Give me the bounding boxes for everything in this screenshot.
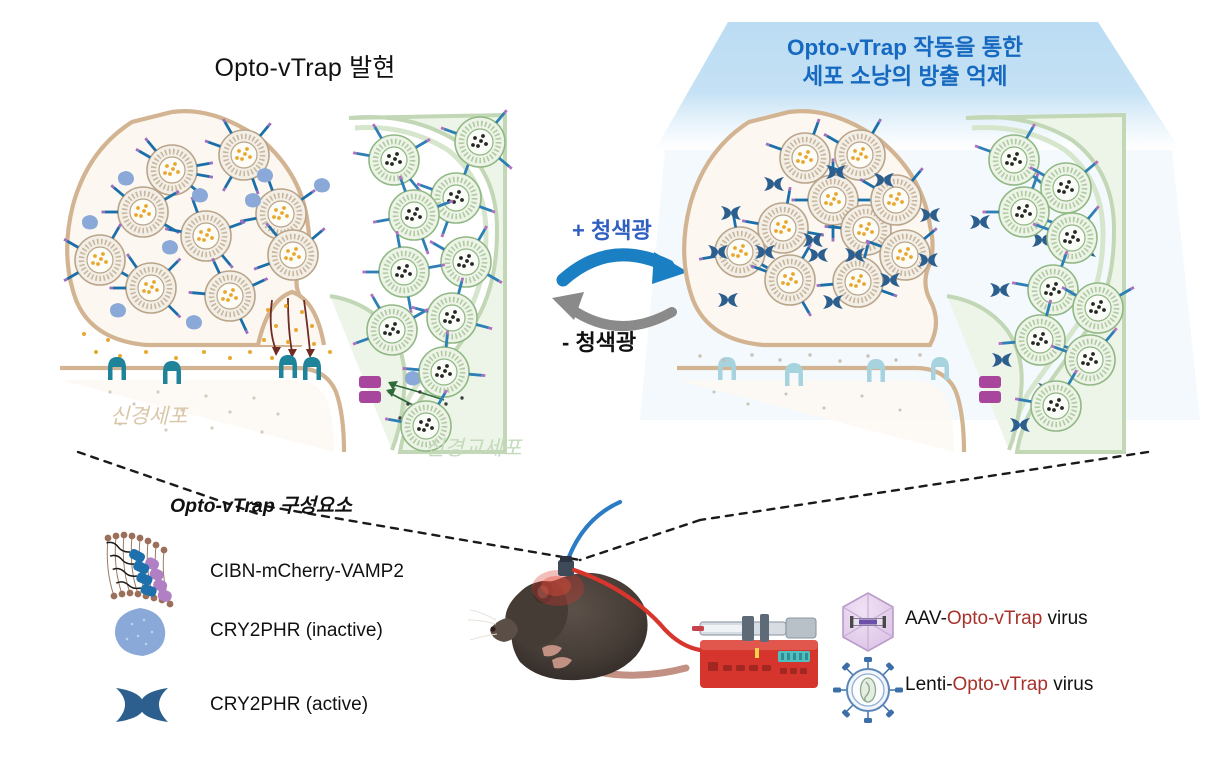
legend-label-cibn-mcherry-vamp2: CIBN-mCherry-VAMP2 bbox=[210, 561, 404, 583]
components-title: Opto-vTrap 구성요소 bbox=[170, 489, 352, 518]
membrane-cibn-mcherry-vamp2-icon bbox=[105, 532, 174, 608]
figure-canvas: Opto-vTrap 발현 Opto-vTrap 작동을 통한 세포 소낭의 방… bbox=[0, 0, 1227, 767]
legend-label-aav-virus: AAV-Opto-vTrap virus bbox=[905, 608, 1088, 630]
lentivirus-icon bbox=[833, 657, 903, 723]
glia-label: 신경교세포 bbox=[425, 432, 522, 462]
aav-highlight: Opto-vTrap bbox=[947, 608, 1042, 629]
mouse-with-optic-fiber-and-syringe-pump bbox=[468, 502, 818, 688]
right-panel-title-line1: Opto-vTrap 작동을 통한 bbox=[720, 33, 1090, 62]
aav-prefix: AAV bbox=[905, 608, 941, 629]
aav-capsid-icon bbox=[843, 593, 893, 651]
left-panel-title: Opto-vTrap 발현 bbox=[150, 48, 460, 84]
right-panel-title: Opto-vTrap 작동을 통한 세포 소낭의 방출 억제 bbox=[720, 33, 1090, 92]
aav-suffix: virus bbox=[1042, 608, 1087, 629]
lenti-prefix: Lenti bbox=[905, 674, 946, 695]
cry2phr-inactive-blob-icon bbox=[115, 608, 165, 656]
legend-label-cry2phr-active: CRY2PHR (active) bbox=[210, 694, 368, 716]
cry2phr-active-cluster-icon bbox=[116, 688, 168, 722]
legend-label-lenti-virus: Lenti-Opto-vTrap virus bbox=[905, 674, 1093, 696]
legend-label-cry2phr-inactive: CRY2PHR (inactive) bbox=[210, 620, 383, 642]
lenti-highlight: Opto-vTrap bbox=[953, 674, 1048, 695]
blue-light-on-label: + 청색광 bbox=[572, 213, 652, 245]
neuron-label: 신경세포 bbox=[110, 400, 187, 430]
right-panel-title-line2: 세포 소낭의 방출 억제 bbox=[720, 62, 1090, 91]
diagram-illustration bbox=[0, 0, 1227, 767]
lenti-suffix: virus bbox=[1048, 674, 1093, 695]
blue-light-off-label: - 청색광 bbox=[562, 325, 636, 357]
